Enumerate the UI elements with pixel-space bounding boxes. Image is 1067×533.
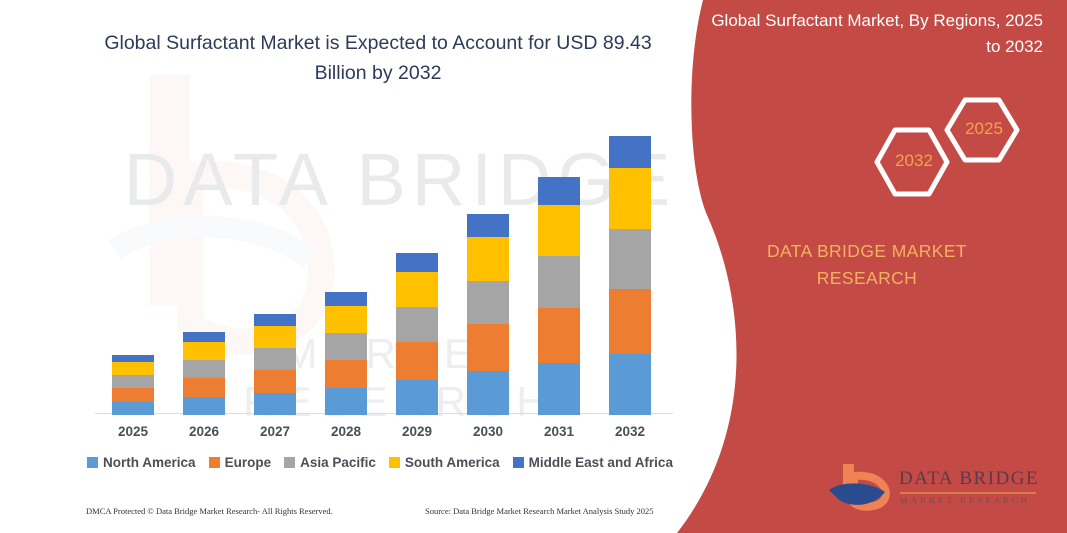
bar-2030[interactable] bbox=[467, 214, 509, 415]
x-axis-label-2032: 2032 bbox=[600, 424, 660, 439]
hexagon-2032-label: 2032 bbox=[893, 151, 935, 171]
legend-label: Europe bbox=[225, 455, 272, 470]
bar-segment-middle-east-and-africa[interactable] bbox=[538, 177, 580, 205]
bar-segment-north-america[interactable] bbox=[254, 393, 296, 415]
legend-swatch-icon bbox=[284, 457, 295, 468]
bar-segment-north-america[interactable] bbox=[325, 388, 367, 415]
bar-segment-north-america[interactable] bbox=[538, 363, 580, 415]
bar-segment-south-america[interactable] bbox=[254, 326, 296, 348]
bar-2026[interactable] bbox=[183, 332, 225, 415]
legend-label: North America bbox=[103, 455, 196, 470]
bar-segment-europe[interactable] bbox=[183, 378, 225, 397]
x-axis-label-2025: 2025 bbox=[103, 424, 163, 439]
chart-title: Global Surfactant Market is Expected to … bbox=[90, 28, 666, 88]
brand-line-2: RESEARCH bbox=[817, 268, 917, 288]
footer-source: Source: Data Bridge Market Research Mark… bbox=[425, 506, 654, 516]
bar-segment-asia-pacific[interactable] bbox=[396, 307, 438, 342]
bar-segment-europe[interactable] bbox=[467, 324, 509, 371]
legend-item-asia-pacific[interactable]: Asia Pacific bbox=[284, 455, 376, 470]
bar-segment-asia-pacific[interactable] bbox=[325, 333, 367, 360]
bar-2027[interactable] bbox=[254, 314, 296, 415]
bar-segment-south-america[interactable] bbox=[538, 205, 580, 257]
logo-mark-icon bbox=[827, 462, 897, 512]
legend-item-middle-east-and-africa[interactable]: Middle East and Africa bbox=[513, 455, 673, 470]
bar-segment-asia-pacific[interactable] bbox=[183, 360, 225, 378]
legend-swatch-icon bbox=[87, 457, 98, 468]
bar-segment-middle-east-and-africa[interactable] bbox=[609, 136, 651, 168]
bar-2031[interactable] bbox=[538, 177, 580, 415]
x-axis-label-2031: 2031 bbox=[529, 424, 589, 439]
legend-swatch-icon bbox=[513, 457, 524, 468]
bar-2032[interactable] bbox=[609, 136, 651, 415]
bar-segment-asia-pacific[interactable] bbox=[112, 375, 154, 388]
bar-segment-south-america[interactable] bbox=[325, 306, 367, 333]
bar-segment-asia-pacific[interactable] bbox=[609, 229, 651, 290]
bar-segment-south-america[interactable] bbox=[609, 168, 651, 229]
x-axis-label-2029: 2029 bbox=[387, 424, 447, 439]
bar-segment-asia-pacific[interactable] bbox=[467, 281, 509, 325]
bar-2029[interactable] bbox=[396, 253, 438, 415]
stacked-bar-plot bbox=[95, 120, 675, 415]
logo-text-secondary: MARKET RESEARCH bbox=[900, 495, 1030, 505]
brand-name: DATA BRIDGE MARKET RESEARCH bbox=[697, 238, 1037, 292]
bar-segment-south-america[interactable] bbox=[396, 272, 438, 307]
bar-segment-north-america[interactable] bbox=[183, 397, 225, 415]
company-logo: DATA BRIDGE MARKET RESEARCH bbox=[827, 462, 1042, 514]
bar-segment-middle-east-and-africa[interactable] bbox=[254, 314, 296, 326]
bar-segment-europe[interactable] bbox=[254, 370, 296, 394]
legend-label: Asia Pacific bbox=[300, 455, 376, 470]
bar-segment-north-america[interactable] bbox=[396, 380, 438, 415]
bar-2025[interactable] bbox=[112, 355, 154, 415]
bar-segment-europe[interactable] bbox=[396, 342, 438, 380]
legend-label: Middle East and Africa bbox=[529, 455, 673, 470]
bar-segment-north-america[interactable] bbox=[112, 402, 154, 415]
bar-segment-asia-pacific[interactable] bbox=[254, 348, 296, 370]
legend-item-south-america[interactable]: South America bbox=[389, 455, 500, 470]
bar-segment-south-america[interactable] bbox=[112, 362, 154, 375]
logo-divider bbox=[900, 492, 1036, 494]
bar-segment-south-america[interactable] bbox=[183, 342, 225, 360]
brand-line-1: DATA BRIDGE MARKET bbox=[767, 241, 967, 261]
chart-legend: North AmericaEuropeAsia PacificSouth Ame… bbox=[0, 455, 760, 470]
x-axis-label-2027: 2027 bbox=[245, 424, 305, 439]
bar-segment-north-america[interactable] bbox=[467, 371, 509, 415]
x-axis-label-2030: 2030 bbox=[458, 424, 518, 439]
hexagon-2025-label: 2025 bbox=[963, 119, 1005, 139]
bar-segment-middle-east-and-africa[interactable] bbox=[112, 355, 154, 362]
bar-segment-middle-east-and-africa[interactable] bbox=[467, 214, 509, 237]
bar-segment-asia-pacific[interactable] bbox=[538, 256, 580, 308]
bar-segment-north-america[interactable] bbox=[609, 354, 651, 415]
bar-segment-europe[interactable] bbox=[609, 289, 651, 354]
legend-item-north-america[interactable]: North America bbox=[87, 455, 196, 470]
legend-swatch-icon bbox=[389, 457, 400, 468]
bar-segment-europe[interactable] bbox=[538, 308, 580, 364]
footer-copyright: DMCA Protected © Data Bridge Market Rese… bbox=[86, 506, 333, 516]
bar-segment-europe[interactable] bbox=[325, 360, 367, 389]
x-axis-labels: 20252026202720282029203020312032 bbox=[95, 424, 675, 446]
legend-swatch-icon bbox=[209, 457, 220, 468]
bar-segment-middle-east-and-africa[interactable] bbox=[183, 332, 225, 342]
legend-label: South America bbox=[405, 455, 500, 470]
bar-2028[interactable] bbox=[325, 292, 367, 415]
brand-panel: Global Surfactant Market, By Regions, 20… bbox=[667, 0, 1067, 533]
x-axis-label-2028: 2028 bbox=[316, 424, 376, 439]
hexagon-group: 2025 2032 bbox=[777, 92, 1057, 212]
infographic-canvas: DATA BRIDGE MARKET RESEARCH Global Surfa… bbox=[0, 0, 1067, 533]
bar-segment-middle-east-and-africa[interactable] bbox=[396, 253, 438, 272]
legend-item-europe[interactable]: Europe bbox=[209, 455, 272, 470]
logo-text-primary: DATA BRIDGE bbox=[899, 468, 1039, 490]
x-axis-label-2026: 2026 bbox=[174, 424, 234, 439]
bar-segment-middle-east-and-africa[interactable] bbox=[325, 292, 367, 306]
bar-segment-south-america[interactable] bbox=[467, 237, 509, 281]
bar-segment-europe[interactable] bbox=[112, 388, 154, 402]
panel-title: Global Surfactant Market, By Regions, 20… bbox=[703, 8, 1043, 60]
